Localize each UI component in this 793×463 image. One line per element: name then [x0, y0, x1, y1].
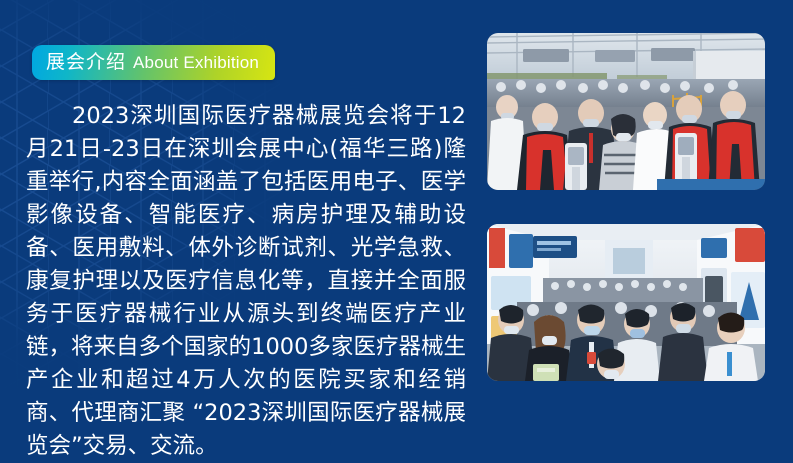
section-heading-badge: 展会介绍 About Exhibition — [32, 45, 275, 80]
photo-exhibition-hall-aisle — [487, 224, 765, 381]
section-title-en: About Exhibition — [133, 54, 259, 71]
exhibition-intro-column: 展会介绍 About Exhibition 2023深圳国际医疗器械展览会将于1… — [0, 0, 480, 418]
photo-column — [487, 0, 767, 418]
section-title-cn: 展会介绍 — [46, 53, 126, 72]
photo-exhibition-entrance-crowd — [487, 33, 765, 190]
exhibition-description-paragraph: 2023深圳国际医疗器械展览会将于12月21日-23日在深圳会展中心(福华三路)… — [26, 100, 466, 463]
